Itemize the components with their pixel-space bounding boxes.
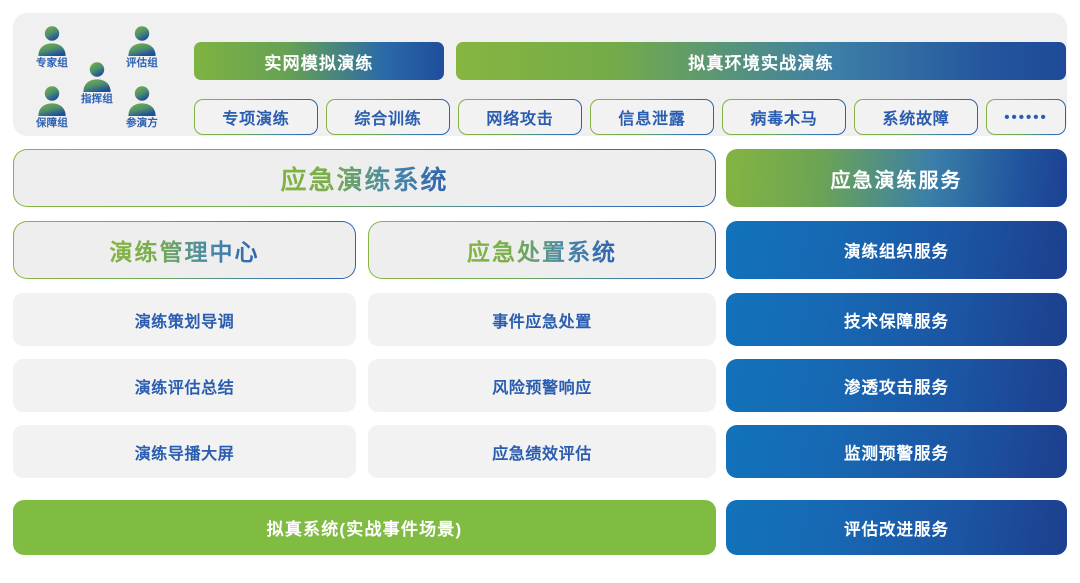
pill-network-attack[interactable]: 网络攻击 <box>458 99 582 135</box>
service-monitor-warning[interactable]: 监测预警服务 <box>726 425 1067 478</box>
person-icon <box>35 85 69 116</box>
role-performer: 参演方 <box>115 85 169 129</box>
column-header-drill-management-center: 演练管理中心 <box>13 221 356 279</box>
person-icon <box>80 61 114 92</box>
pill-more[interactable]: •••••• <box>986 99 1066 135</box>
pill-integrated-train[interactable]: 综合训练 <box>326 99 450 135</box>
service-assess-improve[interactable]: 评估改进服务 <box>726 500 1067 555</box>
service-tech-support[interactable]: 技术保障服务 <box>726 293 1067 346</box>
person-icon <box>125 25 159 56</box>
role-support: 保障组 <box>25 85 79 129</box>
item-drill-broadcast[interactable]: 演练导播大屏 <box>13 425 356 478</box>
person-icon <box>125 85 159 116</box>
bar-real-network-simulation[interactable]: 实网模拟演练 <box>194 42 444 80</box>
person-icon <box>35 25 69 56</box>
pill-info-leak[interactable]: 信息泄露 <box>590 99 714 135</box>
role-label: 参演方 <box>115 117 169 129</box>
item-drill-planning[interactable]: 演练策划导调 <box>13 293 356 346</box>
column-header-emergency-response-system: 应急处置系统 <box>368 221 716 279</box>
system-title-box: 应急演练系统 <box>13 149 716 207</box>
architecture-diagram: 专家组 <box>0 0 1080 583</box>
roles-group: 专家组 <box>23 19 183 131</box>
top-panel: 专家组 <box>13 13 1067 136</box>
column-header-label: 演练管理中心 <box>110 233 260 267</box>
pill-system-failure[interactable]: 系统故障 <box>854 99 978 135</box>
item-risk-warning[interactable]: 风险预警响应 <box>368 359 716 412</box>
system-title: 应急演练系统 <box>280 160 448 197</box>
bar-simulated-environment[interactable]: 拟真环境实战演练 <box>456 42 1066 80</box>
column-header-label: 应急处置系统 <box>467 233 617 267</box>
service-penetration-attack[interactable]: 渗透攻击服务 <box>726 359 1067 412</box>
pill-special-drill[interactable]: 专项演练 <box>194 99 318 135</box>
item-performance-assess[interactable]: 应急绩效评估 <box>368 425 716 478</box>
role-label: 保障组 <box>25 117 79 129</box>
services-header: 应急演练服务 <box>726 149 1067 207</box>
service-drill-organization[interactable]: 演练组织服务 <box>726 221 1067 279</box>
item-drill-evaluation[interactable]: 演练评估总结 <box>13 359 356 412</box>
item-incident-response[interactable]: 事件应急处置 <box>368 293 716 346</box>
system-footer-simulation[interactable]: 拟真系统(实战事件场景) <box>13 500 716 555</box>
pill-virus-trojan[interactable]: 病毒木马 <box>722 99 846 135</box>
